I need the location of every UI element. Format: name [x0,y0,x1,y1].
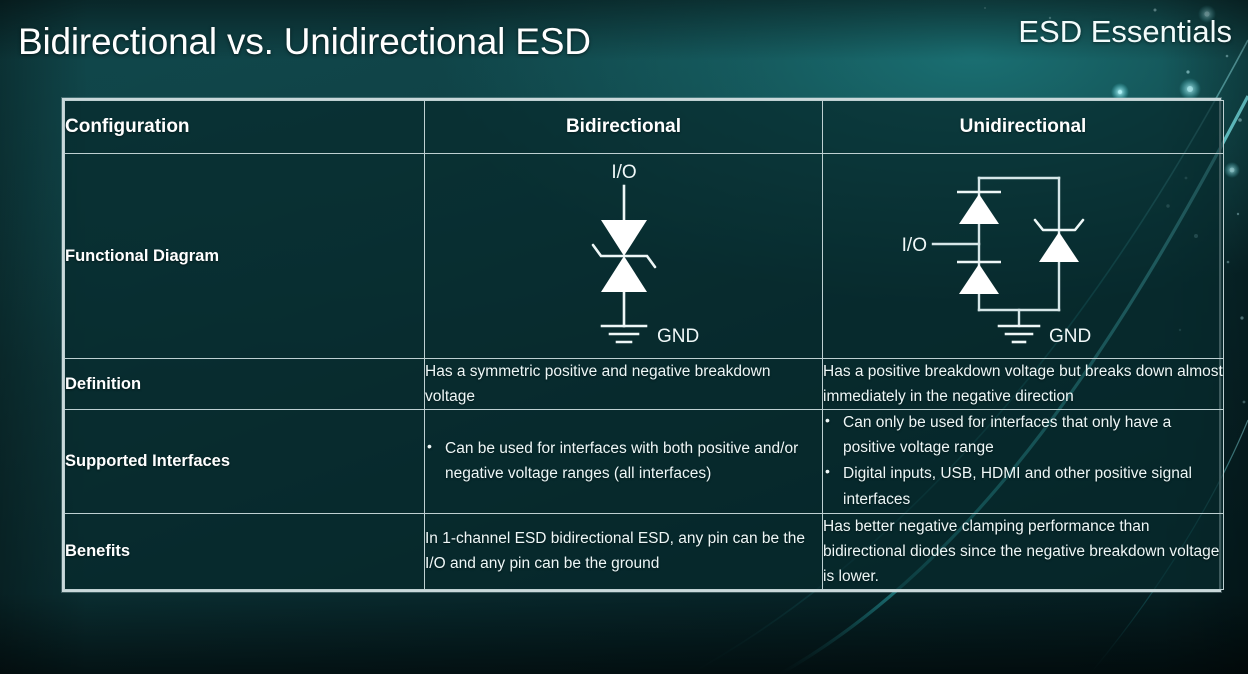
table-header-row: Configuration Bidirectional Unidirection… [65,101,1224,154]
comparison-table-wrapper: Configuration Bidirectional Unidirection… [62,98,1221,592]
bullet-list: Can be used for interfaces with both pos… [425,436,822,486]
ground-symbol [999,326,1039,342]
column-header-unidirectional: Unidirectional [823,101,1224,154]
steering-diode-lower [957,262,1001,294]
io-label: I/O [902,235,927,256]
gnd-label: GND [1049,326,1091,347]
gnd-label: GND [657,326,699,347]
benefits-bidirectional-text: In 1-channel ESD bidirectional ESD, any … [425,526,822,576]
cell-unidirectional-diagram: I/O GND [823,154,1224,359]
row-label-functional-diagram: Functional Diagram [65,154,425,359]
table-header: Configuration Bidirectional Unidirection… [65,101,1224,154]
row-label-supported-interfaces: Supported Interfaces [65,410,425,513]
definition-unidirectional-text: Has a positive breakdown voltage but bre… [823,359,1223,409]
column-header-configuration: Configuration [65,101,425,154]
comparison-table: Configuration Bidirectional Unidirection… [64,100,1224,590]
table-row-benefits: Benefits In 1-channel ESD bidirectional … [65,513,1224,589]
cell-bidirectional-diagram: I/O GND [425,154,823,359]
column-header-bidirectional: Bidirectional [425,101,823,154]
steering-diode-upper [957,192,1001,224]
circuit-rails [933,178,1059,326]
cell-definition-unidirectional: Has a positive breakdown voltage but bre… [823,359,1224,410]
unidirectional-tvs-diagram: I/O GND [893,158,1153,354]
cell-interfaces-unidirectional: Can only be used for interfaces that onl… [823,410,1224,513]
table-row-supported-interfaces: Supported Interfaces Can be used for int… [65,410,1224,513]
list-item: Digital inputs, USB, HDMI and other posi… [823,461,1223,511]
cell-interfaces-bidirectional: Can be used for interfaces with both pos… [425,410,823,513]
table-body: Functional Diagram [65,154,1224,590]
io-label: I/O [611,162,636,183]
benefits-unidirectional-text: Has better negative clamping performance… [823,514,1223,589]
cell-benefits-unidirectional: Has better negative clamping performance… [823,513,1224,589]
cell-benefits-bidirectional: In 1-channel ESD bidirectional ESD, any … [425,513,823,589]
row-label-benefits: Benefits [65,513,425,589]
list-item: Can be used for interfaces with both pos… [425,436,822,486]
definition-bidirectional-text: Has a symmetric positive and negative br… [425,359,822,409]
table-row-functional-diagram: Functional Diagram [65,154,1224,359]
table-row-definition: Definition Has a symmetric positive and … [65,359,1224,410]
series-label: ESD Essentials [1018,14,1232,50]
row-label-definition: Definition [65,359,425,410]
list-item: Can only be used for interfaces that onl… [823,410,1223,460]
bidirectional-tvs-diagram: I/O GND [529,158,719,354]
slide-canvas: Bidirectional vs. Unidirectional ESD ESD… [0,0,1248,674]
page-title: Bidirectional vs. Unidirectional ESD [18,21,591,63]
cell-definition-bidirectional: Has a symmetric positive and negative br… [425,359,823,410]
bullet-list: Can only be used for interfaces that onl… [823,410,1223,511]
